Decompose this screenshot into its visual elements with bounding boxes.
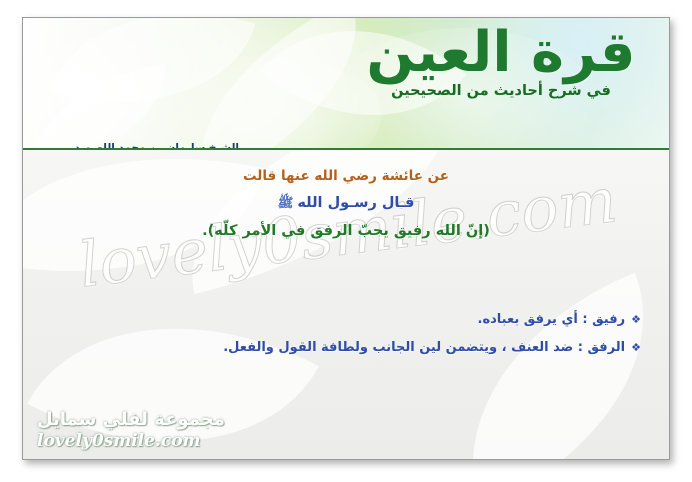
header-decoration-swirl [23, 18, 291, 150]
hadith-matn-line: (إنّ الله رفيق يحبّ الرفق في الأمر كلّه)… [23, 223, 669, 239]
list-item: ❖ رفيق : أي يرفق بعباده. [223, 312, 641, 327]
content-body: lovely0smile.com عن عائشة رضي الله عنها … [23, 150, 669, 460]
site-logo: قرة العين في شرح أحاديث من الصحيحين [351, 24, 651, 99]
salawat-icon: ﷺ [278, 196, 294, 211]
list-item: ❖ الرفق : ضد العنف ، ويتضمن لين الجانب و… [223, 340, 641, 355]
author-name: الشيخ سليمان بن محمد اللهيميد [109, 142, 239, 150]
content-card: قرة العين في شرح أحاديث من الصحيحين الشي… [22, 17, 670, 460]
brand-arabic-name: مجموعة لفلي سمايل [37, 409, 225, 430]
header-leaf-ornament [23, 63, 180, 150]
explanation-definition: أي يرفق بعباده. [478, 312, 578, 327]
explanation-definition: ضد العنف ، ويتضمن لين الجانب ولطافة القو… [223, 340, 573, 355]
diamond-bullet-icon: ❖ [631, 341, 641, 354]
header-leaf-ornament [51, 18, 256, 139]
logo-title: قرة العين [351, 24, 651, 81]
page-root: قرة العين في شرح أحاديث من الصحيحين الشي… [0, 0, 692, 482]
header-banner: قرة العين في شرح أحاديث من الصحيحين الشي… [23, 18, 669, 150]
header-decoration-swirl [34, 35, 392, 150]
hadith-block: عن عائشة رضي الله عنها قالت قـال رسـول ا… [23, 168, 669, 239]
hadith-narrator-line: عن عائشة رضي الله عنها قالت [23, 168, 669, 184]
hadith-saying-text: قـال رسـول الله [297, 195, 414, 211]
hadith-saying-line: قـال رسـول اللهﷺ [23, 195, 669, 214]
explanation-list: ❖ رفيق : أي يرفق بعباده. ❖ الرفق : ضد ال… [223, 312, 641, 368]
explanation-separator: : [578, 312, 592, 327]
diamond-bullet-icon: ❖ [631, 313, 641, 326]
logo-subtitle: في شرح أحاديث من الصحيحين [351, 83, 651, 99]
explanation-term: رفيق [592, 312, 625, 327]
explanation-text: الرفق : ضد العنف ، ويتضمن لين الجانب ولط… [223, 340, 625, 355]
explanation-term: الرفق [587, 340, 625, 355]
brand-footer: مجموعة لفلي سمايل lovely0smile.com [37, 409, 225, 451]
explanation-separator: : [573, 340, 587, 355]
explanation-text: رفيق : أي يرفق بعباده. [478, 312, 626, 327]
brand-url: lovely0smile.com [37, 431, 225, 451]
